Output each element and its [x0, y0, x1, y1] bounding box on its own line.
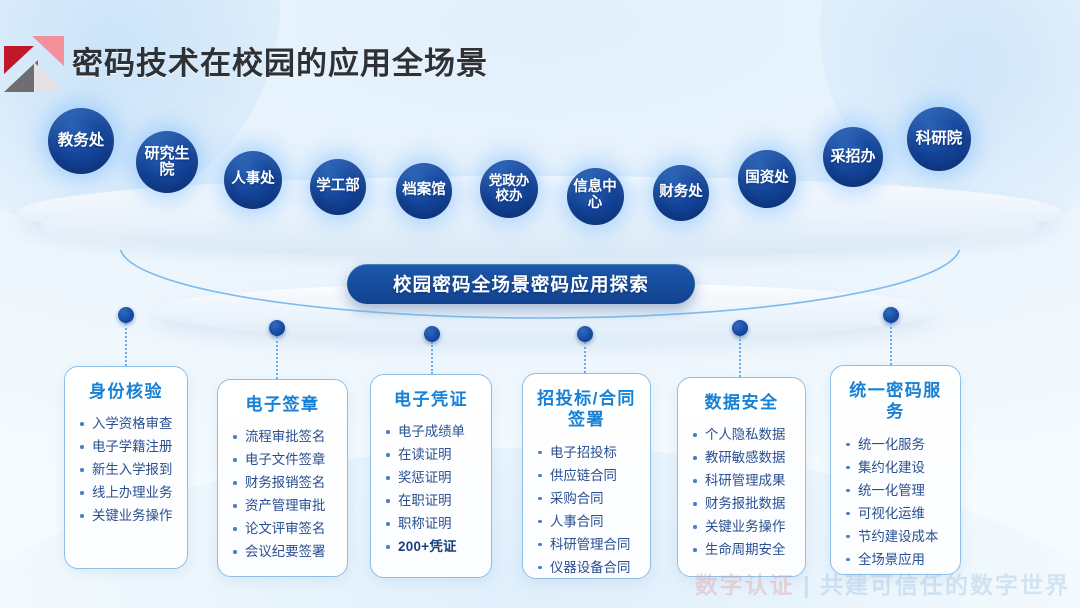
department-circle-1[interactable]: 教务处 [48, 108, 114, 174]
scenario-card-2[interactable]: 电子签章流程审批签名电子文件签章财务报销签名资产管理审批论文评审签名会议纪要签署 [217, 379, 348, 577]
connector-node-2 [269, 320, 285, 336]
scenario-card-list-item: 个人隐私数据 [690, 423, 793, 446]
scenario-card-list-item: 财务报销签名 [230, 471, 335, 494]
scenario-card-4[interactable]: 招投标/合同签署电子招投标供应链合同采购合同人事合同科研管理合同仪器设备合同 [522, 373, 651, 579]
department-circle-label: 信息中心 [567, 180, 624, 211]
watermark-slogan: 共建可信任的数字世界 [820, 572, 1070, 598]
scenario-card-list-item: 采购合同 [535, 487, 638, 510]
connector-arc [0, 250, 1080, 380]
connector-line-2 [276, 336, 278, 379]
page-title: 密码技术在校园的应用全场景 [72, 38, 488, 83]
scenario-card-list-item: 论文评审签名 [230, 517, 335, 540]
scenario-card-list-item: 在读证明 [383, 443, 479, 466]
scenario-card-list: 统一化服务集约化建设统一化管理可视化运维节约建设成本全场景应用 [843, 433, 948, 571]
scenario-card-title: 统一密码服务 [843, 380, 948, 423]
department-circle-3[interactable]: 人事处 [224, 151, 282, 209]
scenario-card-list-item: 职称证明 [383, 512, 479, 535]
department-circle-9[interactable]: 国资处 [738, 150, 796, 208]
scenario-card-list-item: 统一化服务 [843, 433, 948, 456]
scenario-card-list-item: 会议纪要签署 [230, 540, 335, 563]
department-circle-label: 研究生院 [136, 146, 198, 178]
scenario-card-title: 招投标/合同签署 [535, 388, 638, 431]
scenario-card-list-item: 电子文件签章 [230, 448, 335, 471]
department-circle-4[interactable]: 学工部 [310, 159, 366, 215]
scenario-card-list-item: 节约建设成本 [843, 525, 948, 548]
scenario-card-title: 身份核验 [77, 381, 175, 402]
department-circle-label: 科研院 [910, 131, 969, 148]
slide-canvas: 密码技术在校园的应用全场景 教务处研究生院人事处学工部档案馆党政办校办信息中心财… [0, 0, 1080, 608]
scenario-card-6[interactable]: 统一密码服务统一化服务集约化建设统一化管理可视化运维节约建设成本全场景应用 [830, 365, 961, 575]
scenario-card-list-item: 生命周期安全 [690, 538, 793, 561]
watermark-brand: 数字认证 [695, 572, 795, 598]
scenario-card-list-item: 供应链合同 [535, 464, 638, 487]
watermark: 数字认证 | 共建可信任的数字世界 [695, 566, 1070, 600]
scenario-card-list-item: 集约化建设 [843, 456, 948, 479]
department-circle-label: 国资处 [739, 171, 795, 187]
scenario-card-title-line1: 招投标/合同 [535, 388, 638, 409]
department-circle-label: 财务处 [653, 185, 709, 201]
connector-line-1 [125, 323, 127, 366]
scenario-card-list-item: 仪器设备合同 [535, 556, 638, 579]
scenario-card-list-item: 关键业务操作 [77, 504, 175, 527]
scenario-card-list-item: 科研管理合同 [535, 533, 638, 556]
department-circle-label: 党政办校办 [480, 174, 538, 203]
scenario-card-list-item: 关键业务操作 [690, 515, 793, 538]
scenario-card-list-item: 教研敏感数据 [690, 446, 793, 469]
scenario-card-list: 流程审批签名电子文件签章财务报销签名资产管理审批论文评审签名会议纪要签署 [230, 425, 335, 563]
scenario-card-list-item: 在职证明 [383, 489, 479, 512]
scenario-card-title: 电子凭证 [383, 389, 479, 410]
connector-node-1 [118, 307, 134, 323]
connector-node-5 [732, 320, 748, 336]
department-circle-label: 学工部 [310, 179, 366, 195]
scenario-card-list: 入学资格审查电子学籍注册新生入学报到线上办理业务关键业务操作 [77, 412, 175, 527]
department-circle-2[interactable]: 研究生院 [136, 131, 198, 193]
connector-node-6 [883, 307, 899, 323]
watermark-separator: | [803, 572, 811, 598]
platform-ellipse-upper-mid [40, 196, 1040, 258]
scenario-card-list-item: 电子成绩单 [383, 420, 479, 443]
department-circle-label: 档案馆 [396, 183, 452, 199]
scenario-card-list-item: 流程审批签名 [230, 425, 335, 448]
department-circle-label: 教务处 [52, 133, 111, 150]
scenario-card-list-item: 财务报批数据 [690, 492, 793, 515]
scenario-card-1[interactable]: 身份核验入学资格审查电子学籍注册新生入学报到线上办理业务关键业务操作 [64, 366, 188, 569]
scenario-card-3[interactable]: 电子凭证电子成绩单在读证明奖惩证明在职证明职称证明200+凭证 [370, 374, 492, 578]
scenario-card-list-item: 线上办理业务 [77, 481, 175, 504]
department-circle-6[interactable]: 党政办校办 [480, 160, 538, 218]
department-circle-10[interactable]: 采招办 [823, 127, 883, 187]
scenario-card-list-item: 200+凭证 [383, 535, 479, 558]
connector-line-4 [584, 342, 586, 373]
logo-shape-gray [4, 60, 38, 92]
scenario-card-title-line2: 签署 [535, 409, 638, 430]
department-circle-11[interactable]: 科研院 [907, 107, 971, 171]
department-circle-7[interactable]: 信息中心 [567, 168, 624, 225]
connector-node-3 [424, 326, 440, 342]
scenario-card-list: 电子成绩单在读证明奖惩证明在职证明职称证明200+凭证 [383, 420, 479, 558]
connector-line-3 [431, 342, 433, 374]
scenario-card-list-item: 新生入学报到 [77, 458, 175, 481]
scenario-card-title: 数据安全 [690, 392, 793, 413]
department-circle-5[interactable]: 档案馆 [396, 163, 452, 219]
scenario-card-list: 电子招投标供应链合同采购合同人事合同科研管理合同仪器设备合同 [535, 441, 638, 579]
connector-line-6 [890, 323, 892, 365]
scenario-card-list: 个人隐私数据教研敏感数据科研管理成果财务报批数据关键业务操作生命周期安全 [690, 423, 793, 561]
x-logo [4, 24, 66, 92]
department-circle-label: 采招办 [824, 149, 881, 165]
scenario-card-list-item: 统一化管理 [843, 479, 948, 502]
scenario-card-list-item: 人事合同 [535, 510, 638, 533]
scenario-card-list-item: 入学资格审查 [77, 412, 175, 435]
connector-node-4 [577, 326, 593, 342]
connector-line-5 [739, 336, 741, 377]
department-circle-label: 人事处 [225, 172, 281, 188]
logo-shape-light-gray [34, 62, 64, 92]
scenario-card-list-item: 电子学籍注册 [77, 435, 175, 458]
scenario-card-title: 电子签章 [230, 394, 335, 415]
scenario-card-5[interactable]: 数据安全个人隐私数据教研敏感数据科研管理成果财务报批数据关键业务操作生命周期安全 [677, 377, 806, 577]
scenario-card-list-item: 奖惩证明 [383, 466, 479, 489]
scenario-card-list-item: 资产管理审批 [230, 494, 335, 517]
scenario-card-list-item: 科研管理成果 [690, 469, 793, 492]
scenario-card-list-item: 电子招投标 [535, 441, 638, 464]
department-circle-8[interactable]: 财务处 [653, 165, 709, 221]
scenario-card-list-item: 可视化运维 [843, 502, 948, 525]
